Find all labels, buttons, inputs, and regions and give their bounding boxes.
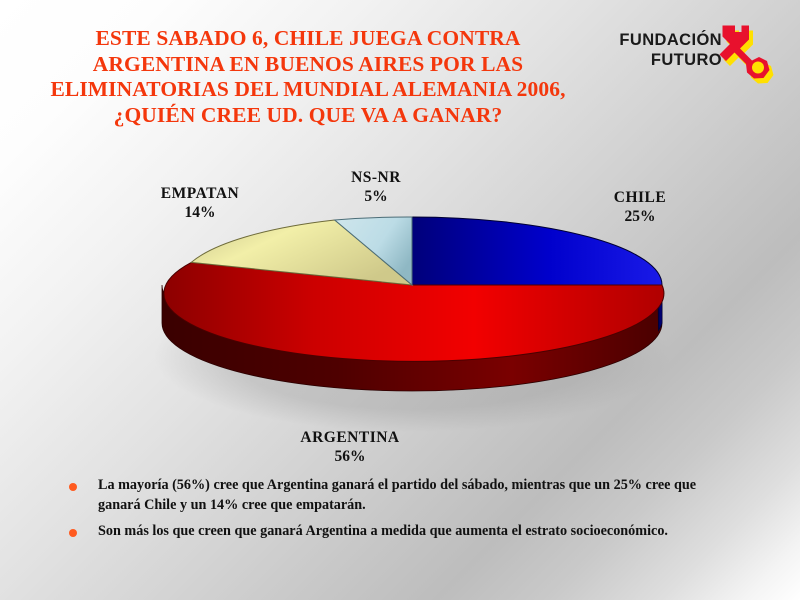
pie-chart: EMPATAN 14% NS-NR 5% CHILE 25% ARGENTINA…: [110, 160, 720, 460]
pie-label-empatan-value: 14%: [130, 203, 270, 222]
pie-label-argentina-name: ARGENTINA: [240, 428, 460, 447]
bullet-item-2: Son más los que creen que ganará Argenti…: [60, 522, 740, 542]
title-line-1: ESTE SABADO 6, CHILE JUEGA CONTRA: [8, 26, 608, 52]
brand-logo: FUNDACIÓN FUTURO: [600, 22, 796, 92]
key-icon: [716, 20, 788, 94]
bullet-text-1: La mayoría (56%) cree que Argentina gana…: [98, 477, 696, 513]
pie-label-chile-name: CHILE: [570, 188, 710, 207]
bullet-dot-icon: [69, 529, 77, 537]
pie-label-argentina: ARGENTINA 56%: [240, 428, 460, 466]
bullet-dot-icon: [69, 483, 77, 491]
title-line-3: ELIMINATORIAS DEL MUNDIAL ALEMANIA 2006,: [8, 77, 608, 103]
pie-label-ns-nr-value: 5%: [306, 187, 446, 206]
bullet-list: La mayoría (56%) cree que Argentina gana…: [60, 476, 740, 549]
bullet-text-2: Son más los que creen que ganará Argenti…: [98, 523, 668, 539]
pie-label-ns-nr: NS-NR 5%: [306, 168, 446, 206]
logo-line-2: FUTURO: [600, 50, 722, 70]
title-line-2: ARGENTINA EN BUENOS AIRES POR LAS: [8, 52, 608, 78]
logo-line-1: FUNDACIÓN: [600, 30, 722, 50]
pie-label-chile: CHILE 25%: [570, 188, 710, 226]
pie-label-chile-value: 25%: [570, 207, 710, 226]
pie-slice-chile: [412, 217, 662, 285]
bullet-item-1: La mayoría (56%) cree que Argentina gana…: [60, 476, 740, 515]
pie-label-ns-nr-name: NS-NR: [306, 168, 446, 187]
pie-label-argentina-value: 56%: [240, 447, 460, 466]
page-title: ESTE SABADO 6, CHILE JUEGA CONTRA ARGENT…: [8, 26, 608, 128]
pie-label-empatan: EMPATAN 14%: [130, 184, 270, 222]
pie-label-empatan-name: EMPATAN: [130, 184, 270, 203]
logo-wordmark: FUNDACIÓN FUTURO: [600, 30, 722, 70]
title-line-4: ¿QUIÉN CREE UD. QUE VA A GANAR?: [8, 103, 608, 129]
slide-canvas: ESTE SABADO 6, CHILE JUEGA CONTRA ARGENT…: [0, 0, 800, 600]
